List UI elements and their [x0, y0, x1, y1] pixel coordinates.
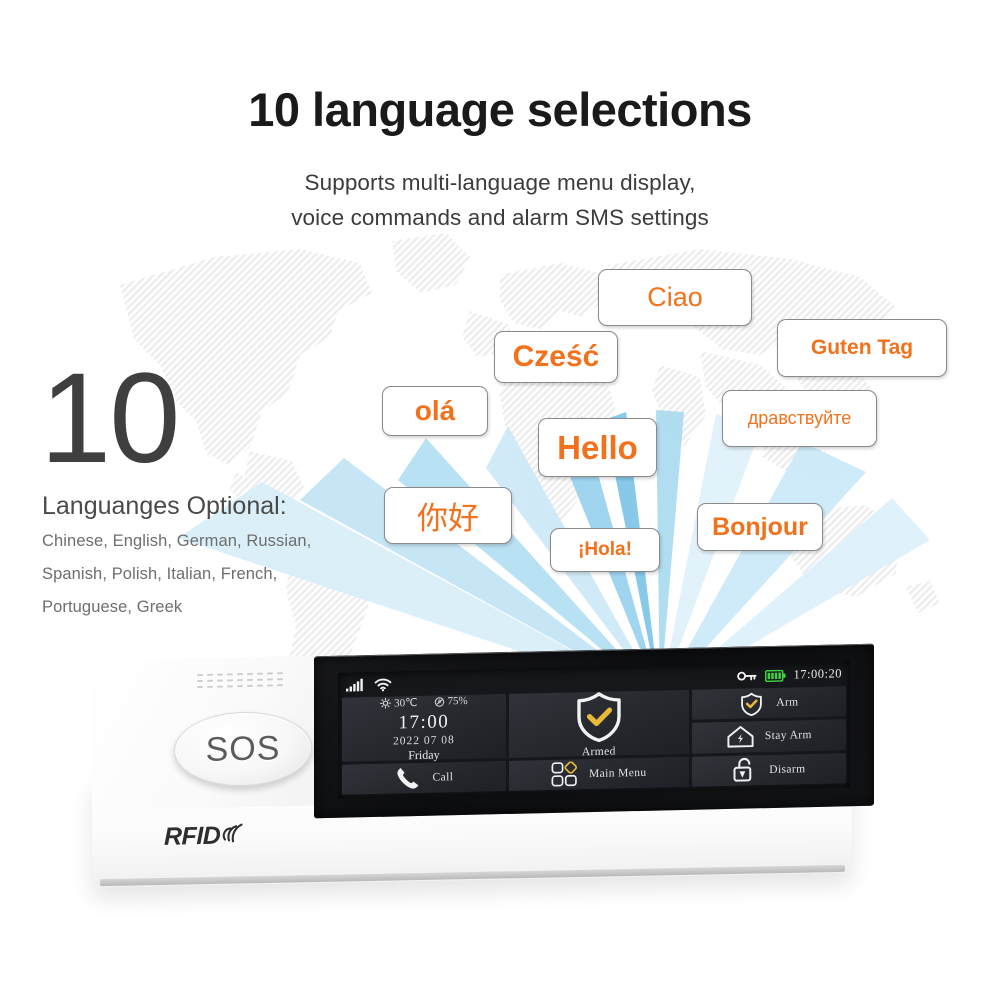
- rfid-label: RFID: [164, 822, 220, 852]
- sun-icon: [380, 697, 391, 708]
- greeting-bubble-french: Bonjour: [697, 503, 823, 551]
- weather-clock-tile[interactable]: 30℃ 75%: [342, 694, 506, 761]
- wifi-icon: [374, 677, 392, 691]
- stay-arm-button-label: Stay Arm: [765, 730, 812, 743]
- call-button[interactable]: Call: [342, 761, 506, 795]
- temperature-value: 30℃: [394, 696, 417, 710]
- touchscreen-display[interactable]: 17:00:20: [338, 661, 850, 799]
- screen-tile-grid: 30℃ 75%: [342, 686, 846, 794]
- disarm-button-label: Disarm: [769, 763, 805, 776]
- product-feature-banner: 10 language selections Supports multi-la…: [0, 0, 1000, 1000]
- shield-check-icon: [572, 689, 626, 744]
- subtitle-line-2: voice commands and alarm SMS settings: [0, 205, 1000, 231]
- alarm-panel-device: SOS RFID: [92, 640, 912, 940]
- greeting-bubble-german: Guten Tag: [777, 319, 947, 377]
- disarm-button[interactable]: Disarm: [692, 753, 846, 787]
- language-list-line: Chinese, English, German, Russian,: [42, 532, 311, 551]
- humidity-value: 75%: [448, 695, 468, 707]
- clock-date: 2022 07 08: [393, 734, 455, 747]
- armed-status-label: Armed: [582, 745, 616, 758]
- greeting-bubble-italian: Ciao: [598, 269, 752, 326]
- language-count-number: 10: [40, 355, 178, 483]
- main-menu-button[interactable]: Main Menu: [509, 757, 689, 791]
- key-icon: [737, 670, 757, 681]
- arm-button-label: Arm: [776, 697, 798, 710]
- device-top-face: SOS RFID: [92, 640, 882, 790]
- clock-weekday: Friday: [408, 747, 439, 763]
- battery-full-icon: [765, 669, 786, 681]
- unlock-icon: [732, 757, 757, 785]
- greeting-bubble-english: Hello: [538, 418, 657, 477]
- call-button-label: Call: [433, 771, 454, 783]
- house-icon: [726, 725, 755, 750]
- humidity-icon: [434, 696, 445, 707]
- phone-icon: [395, 765, 421, 792]
- sos-button-label: SOS: [206, 729, 281, 770]
- greeting-bubble-portuguese: olá: [382, 386, 488, 436]
- status-bar-clock: 17:00:20: [794, 666, 842, 682]
- languages-optional-label: Languanges Optional:: [42, 492, 287, 521]
- main-menu-button-label: Main Menu: [589, 767, 647, 780]
- clock-time: 17:00: [399, 711, 450, 734]
- rfid-logo: RFID: [164, 821, 243, 852]
- shield-check-small-icon: [739, 691, 764, 717]
- language-list-line: Spanish, Polish, Italian, French,: [42, 565, 277, 584]
- page-title: 10 language selections: [0, 82, 1000, 137]
- armed-status-tile[interactable]: Armed: [509, 690, 689, 758]
- subtitle-line-1: Supports multi-language menu display,: [0, 170, 1000, 196]
- greeting-bubble-polish: Cześć: [494, 331, 618, 383]
- greeting-bubble-spanish: ¡Hola!: [550, 528, 660, 572]
- language-list-line: Portuguese, Greek: [42, 598, 182, 617]
- rfid-wave-icon: [221, 821, 243, 843]
- arm-button[interactable]: Arm: [692, 686, 846, 720]
- speaker-grille: [197, 672, 297, 698]
- cellular-signal-icon: [346, 678, 365, 691]
- stay-arm-button[interactable]: Stay Arm: [692, 720, 846, 754]
- grid-menu-icon: [551, 761, 579, 788]
- greeting-bubble-chinese: 你好: [384, 487, 512, 544]
- greeting-bubble-russian: дравствуйте: [722, 390, 877, 447]
